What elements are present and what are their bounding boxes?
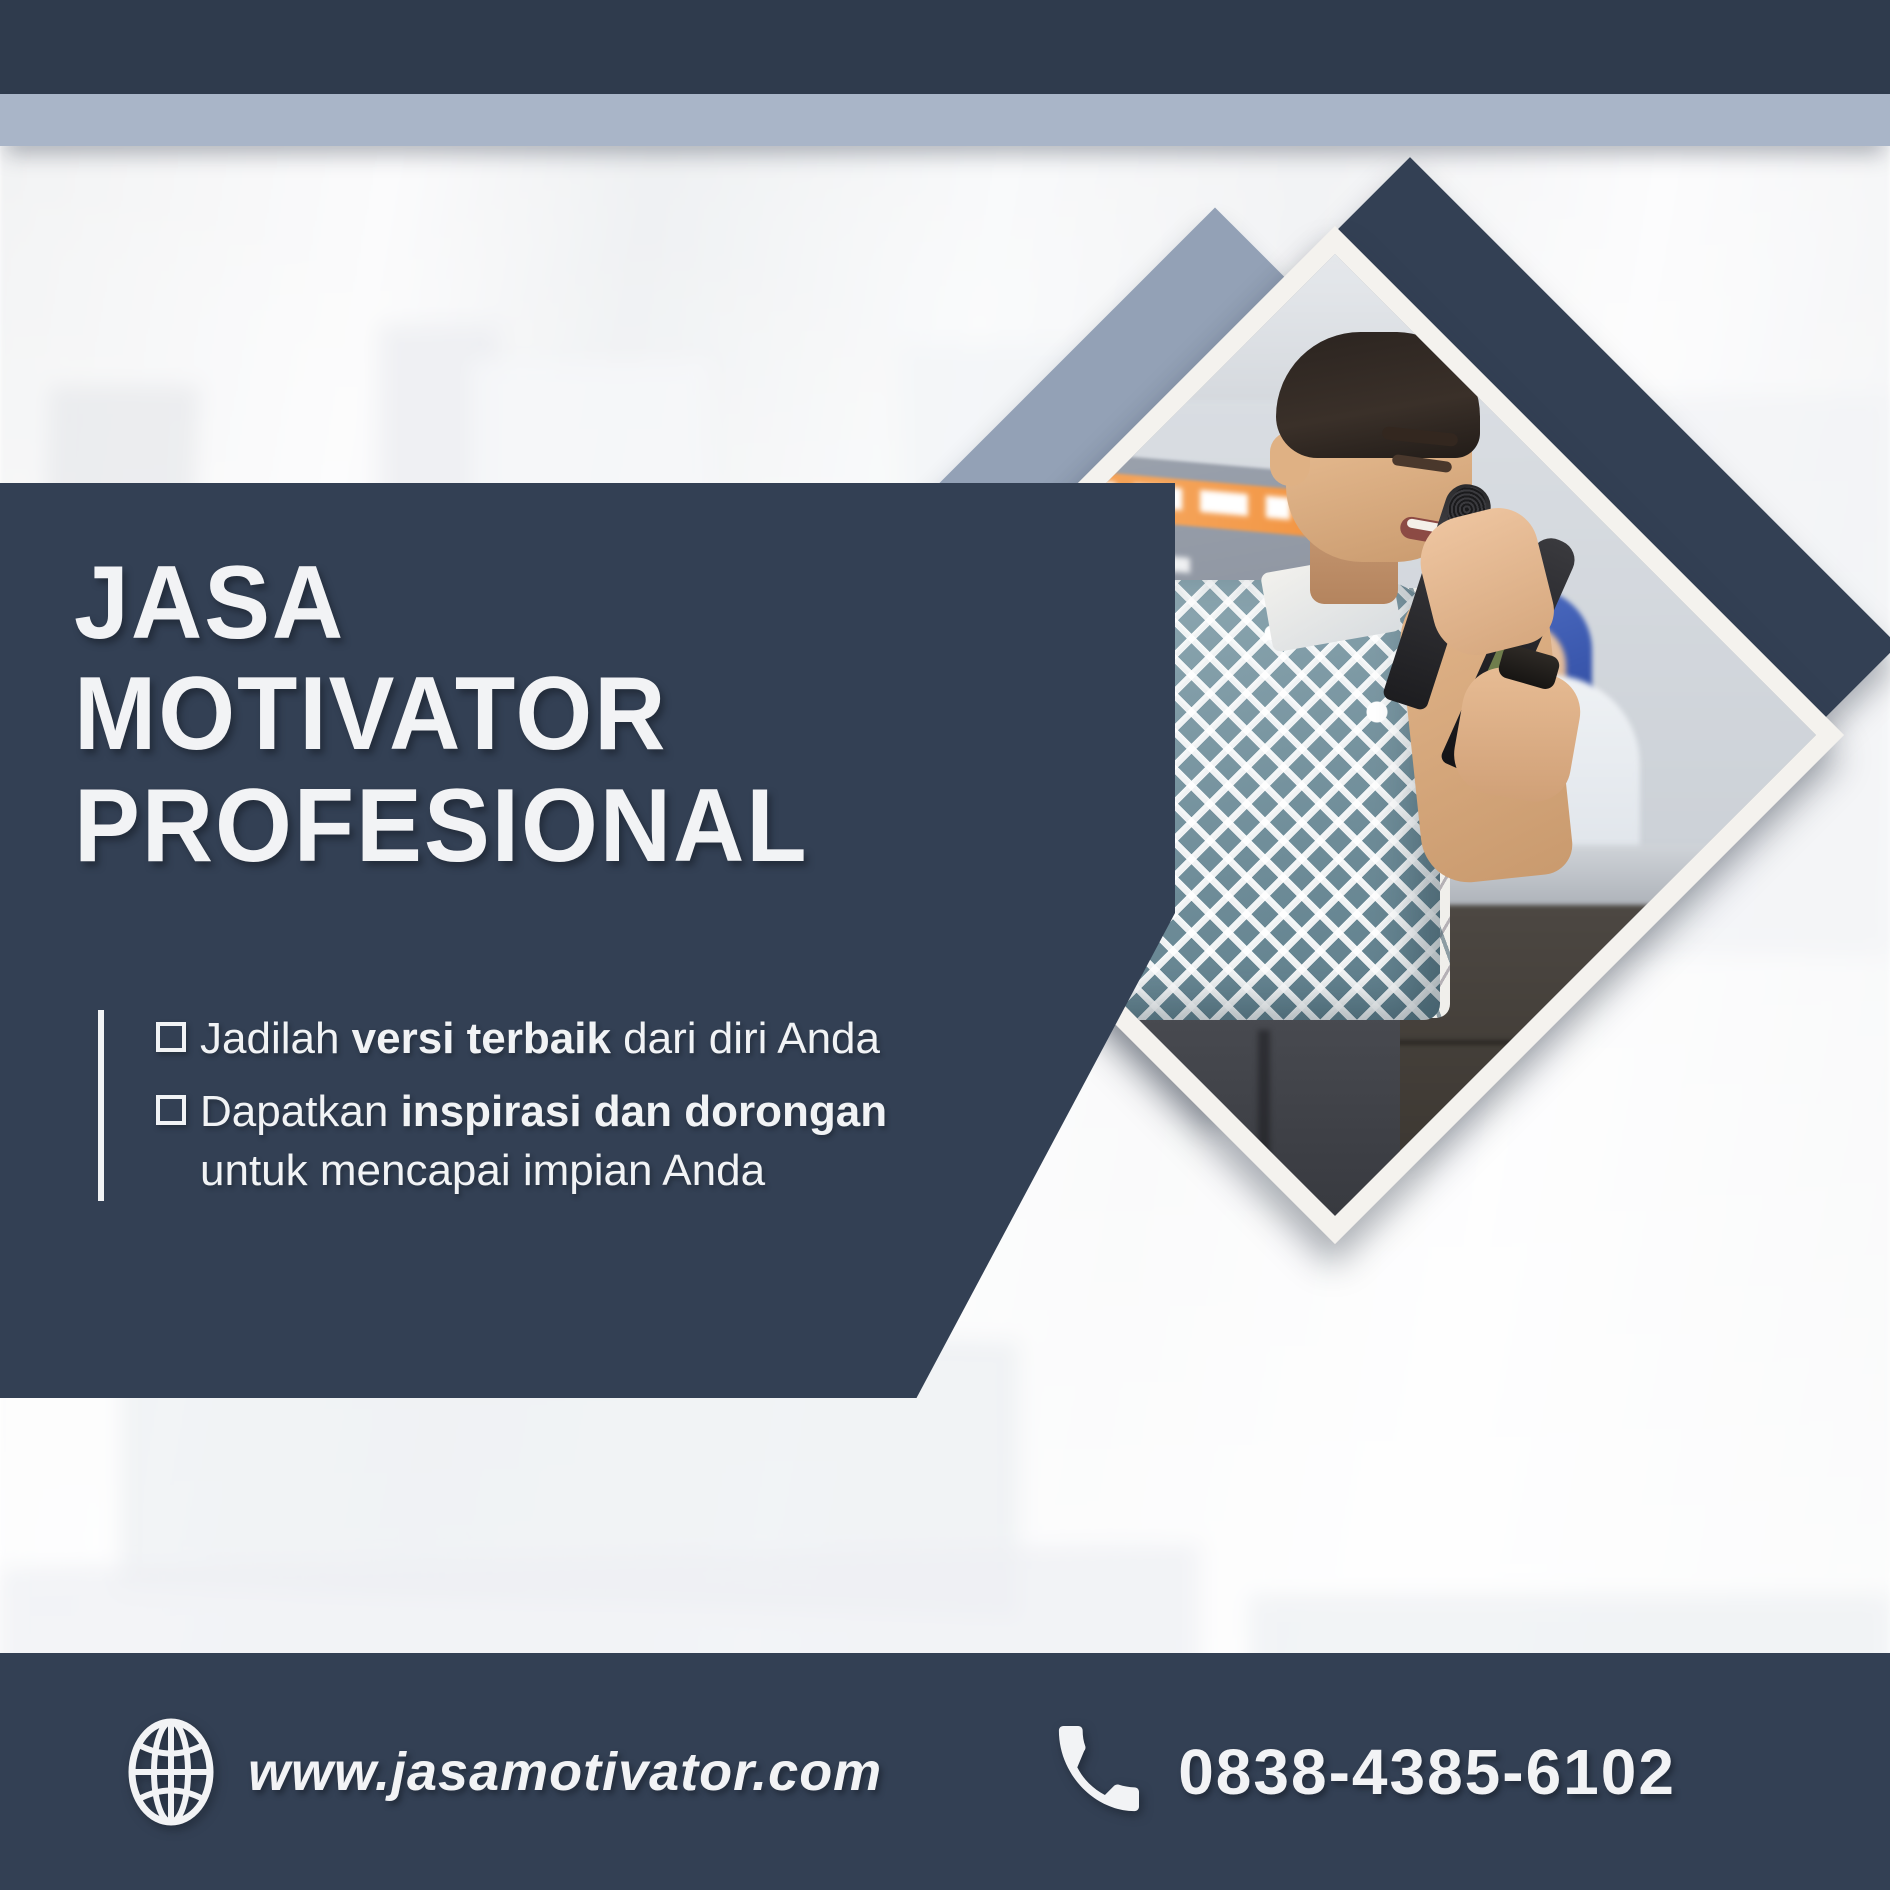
list-item: Dapatkan inspirasi dan dorongan untuk me… xyxy=(156,1083,888,1201)
bullet-1-pre: Jadilah xyxy=(200,1014,352,1063)
bullet-2-strong: inspirasi dan dorongan xyxy=(401,1087,888,1136)
bullet-1-strong: versi terbaik xyxy=(352,1014,611,1063)
poster-canvas: JASA MOTIVATOR PROFESIONAL Jadilah versi… xyxy=(0,0,1890,1890)
coffee-cup xyxy=(1770,810,1816,854)
plant-leaf xyxy=(1282,1209,1329,1216)
globe-icon xyxy=(128,1718,214,1826)
contact-footer: www.jasamotivator.com 0838-4385-6102 xyxy=(0,1653,1890,1890)
title-line-3: PROFESIONAL xyxy=(74,771,929,882)
phone-contact[interactable]: 0838-4385-6102 xyxy=(1052,1726,1676,1818)
benefits-list: Jadilah versi terbaik dari diri Anda Dap… xyxy=(98,1010,888,1201)
bullet-1-post: dari diri Anda xyxy=(611,1014,880,1063)
title-line-1: JASA xyxy=(74,548,929,659)
bullet-2-post: untuk mencapai impian Anda xyxy=(200,1146,765,1195)
foreground-plant xyxy=(1230,1185,1530,1216)
checkbox-square-icon xyxy=(156,1095,186,1125)
website-url[interactable]: www.jasamotivator.com xyxy=(248,1741,882,1803)
phone-icon xyxy=(1052,1726,1144,1818)
top-bar-light xyxy=(0,94,1890,146)
ceiling-light xyxy=(1040,290,1110,316)
title-line-2: MOTIVATOR xyxy=(74,659,929,770)
list-item-text: Dapatkan inspirasi dan dorongan untuk me… xyxy=(200,1083,888,1201)
website-contact[interactable]: www.jasamotivator.com xyxy=(128,1718,882,1826)
page-title: JASA MOTIVATOR PROFESIONAL xyxy=(74,548,929,882)
top-bar-dark xyxy=(0,0,1890,94)
bullet-2-pre: Dapatkan xyxy=(200,1087,401,1136)
list-item-text: Jadilah versi terbaik dari diri Anda xyxy=(200,1010,888,1069)
list-item: Jadilah versi terbaik dari diri Anda xyxy=(156,1010,888,1069)
checkbox-square-icon xyxy=(156,1022,186,1052)
phone-number[interactable]: 0838-4385-6102 xyxy=(1178,1735,1676,1809)
